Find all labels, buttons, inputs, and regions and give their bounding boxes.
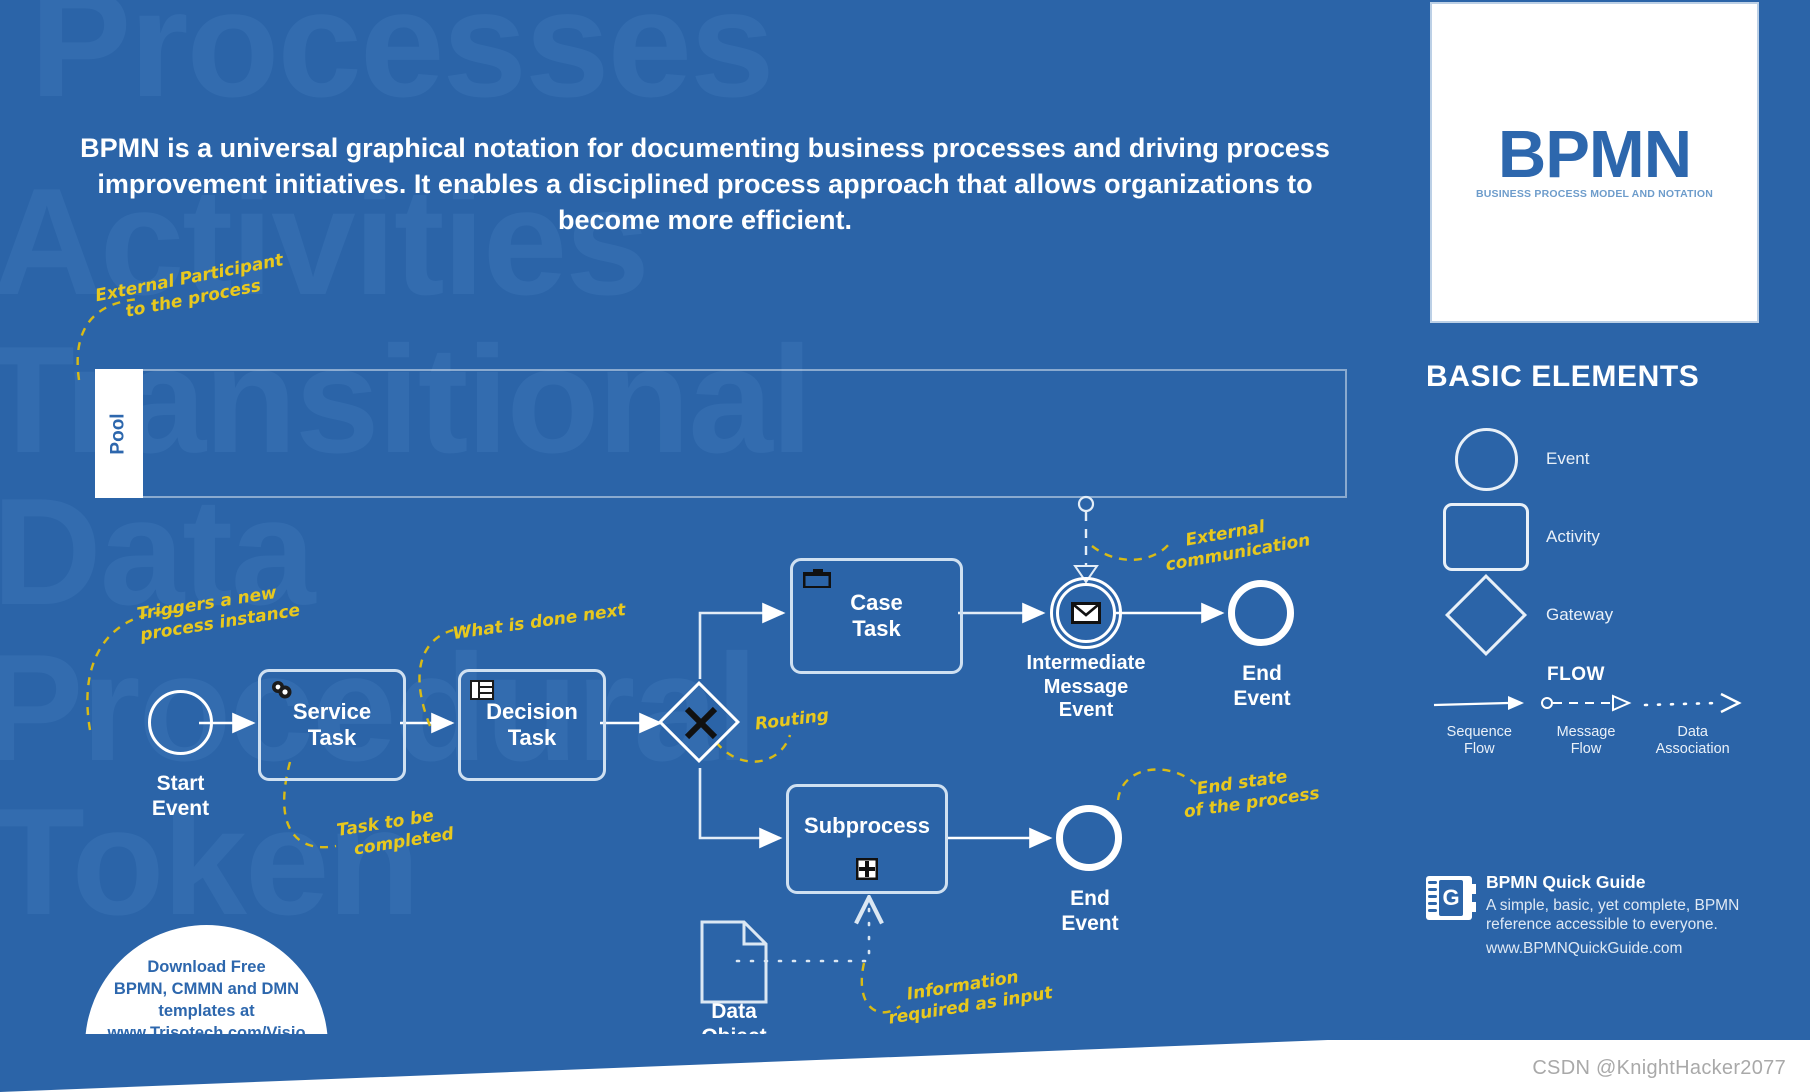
intermediate-label-line2: Message <box>1000 676 1172 700</box>
decision-task-label: Decision Task <box>486 699 578 751</box>
start-event-label-line1: Start <box>108 772 253 797</box>
decision-table-icon <box>469 678 495 702</box>
bpmn-diagram-connectors <box>0 0 1810 1092</box>
end-event-top-label: End Event <box>1189 662 1335 712</box>
case-task-label-line1: Case <box>850 590 903 616</box>
leader-external-communication <box>1092 540 1172 560</box>
end-event-bottom-circle[interactable] <box>1056 805 1122 871</box>
start-event-label: Start Event <box>108 772 253 822</box>
trisotech-line1: Download Free <box>107 957 305 979</box>
decision-task-label-line1: Decision <box>486 699 578 725</box>
data-object-icon[interactable] <box>700 920 768 1004</box>
case-task-label-line2: Task <box>850 616 903 642</box>
service-task-label: Service Task <box>293 699 371 751</box>
intermediate-label-line3: Event <box>1000 699 1172 723</box>
plus-box-icon <box>855 857 879 881</box>
sequence-flow-gateway-to-case <box>700 613 783 679</box>
end-event-bottom-label: End Event <box>1017 887 1163 937</box>
exclusive-gateway[interactable] <box>662 685 738 761</box>
data-object-line1: Data <box>660 1000 808 1025</box>
end-event-top-line1: End <box>1189 662 1335 687</box>
csdn-attribution: CSDN @KnightHacker2077 <box>1532 1057 1786 1080</box>
start-event-circle[interactable] <box>148 690 213 755</box>
service-task[interactable]: Service Task <box>258 669 406 781</box>
message-flow-origin-circle <box>1079 497 1093 511</box>
service-task-label-line1: Service <box>293 699 371 725</box>
case-folder-icon <box>802 568 832 590</box>
gears-icon <box>269 678 295 702</box>
end-event-bottom-line2: Event <box>1017 912 1163 937</box>
end-event-top-circle[interactable] <box>1228 580 1294 646</box>
bpmn-poster: Processes Activities Transitional Data P… <box>0 0 1810 1092</box>
decision-task[interactable]: Decision Task <box>458 669 606 781</box>
trisotech-text: Download Free BPMN, CMMN and DMN templat… <box>107 957 305 1045</box>
trisotech-line3: templates at <box>107 1001 305 1023</box>
subprocess-label: Subprocess <box>804 813 930 839</box>
end-event-top-line2: Event <box>1189 687 1335 712</box>
case-task-label: Case Task <box>850 590 903 642</box>
intermediate-label-line1: Intermediate <box>1000 652 1172 676</box>
x-icon <box>682 704 720 742</box>
intermediate-message-event[interactable] <box>1050 577 1122 649</box>
subprocess-task[interactable]: Subprocess <box>786 784 948 894</box>
case-task[interactable]: Case Task <box>790 558 963 674</box>
decision-task-label-line2: Task <box>486 725 578 751</box>
trisotech-line2: BPMN, CMMN and DMN <box>107 979 305 1001</box>
intermediate-message-event-label: Intermediate Message Event <box>1000 652 1172 723</box>
sequence-flow-gateway-to-subprocess <box>700 768 780 838</box>
end-event-bottom-line1: End <box>1017 887 1163 912</box>
envelope-icon <box>1070 601 1102 625</box>
service-task-label-line2: Task <box>293 725 371 751</box>
start-event-label-line2: Event <box>108 797 253 822</box>
